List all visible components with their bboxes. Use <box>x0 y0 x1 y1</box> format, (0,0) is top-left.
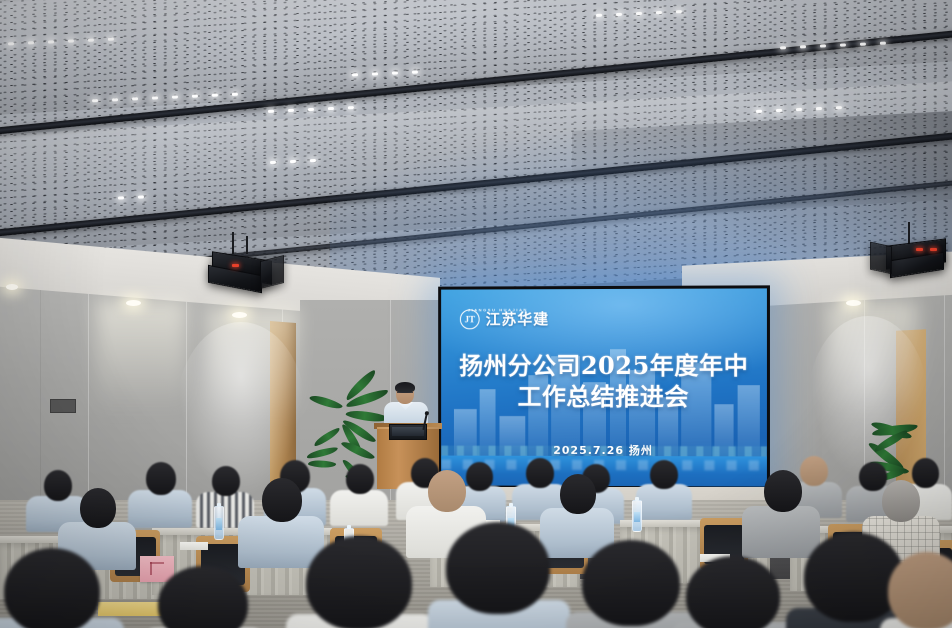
document-paper <box>180 542 208 550</box>
audience-member-foreground <box>0 548 124 628</box>
audience-member <box>636 460 692 518</box>
audience-member-foreground <box>144 566 264 628</box>
slide-title-line-1: 扬州分公司2025年度年中 <box>441 351 767 382</box>
ceiling-downlight <box>846 300 861 306</box>
led-presentation-screen: JT 江苏华建 JIANGSU HUAJIAN 扬州分公司2025年度年中 工作… <box>438 285 770 489</box>
ceiling-speaker-left <box>206 244 292 302</box>
audience-member <box>128 462 192 526</box>
logo-company-name-cn: 江苏华建 <box>486 312 550 327</box>
slide-title-line-2: 工作总结推进会 <box>441 382 767 413</box>
audience-member-foreground <box>428 522 570 628</box>
audience-member-foreground <box>672 556 800 628</box>
logo-company-name-en: JIANGSU HUAJIAN <box>468 308 528 312</box>
audience-member-foreground <box>880 552 952 628</box>
audience-member-foreground <box>286 536 434 628</box>
podium-laptop <box>389 424 427 440</box>
ceiling-downlight <box>126 300 141 306</box>
screen-content: JT 江苏华建 JIANGSU HUAJIAN 扬州分公司2025年度年中 工作… <box>441 288 767 486</box>
water-bottle <box>632 500 642 532</box>
slide-title: 扬州分公司2025年度年中 工作总结推进会 <box>441 351 767 413</box>
ceiling-speaker-right <box>872 236 952 294</box>
ceiling-downlight <box>232 312 247 318</box>
presenter-glasses <box>397 392 413 397</box>
ceiling-downlight <box>6 284 18 290</box>
conference-room-photo: JT 江苏华建 JIANGSU HUAJIAN 扬州分公司2025年度年中 工作… <box>0 0 952 628</box>
water-bottle <box>214 506 224 540</box>
audience-member <box>330 464 388 524</box>
wall-sign-plaque <box>50 399 76 413</box>
slide-subtitle-date-location: 2025.7.26 扬州 <box>441 445 767 457</box>
